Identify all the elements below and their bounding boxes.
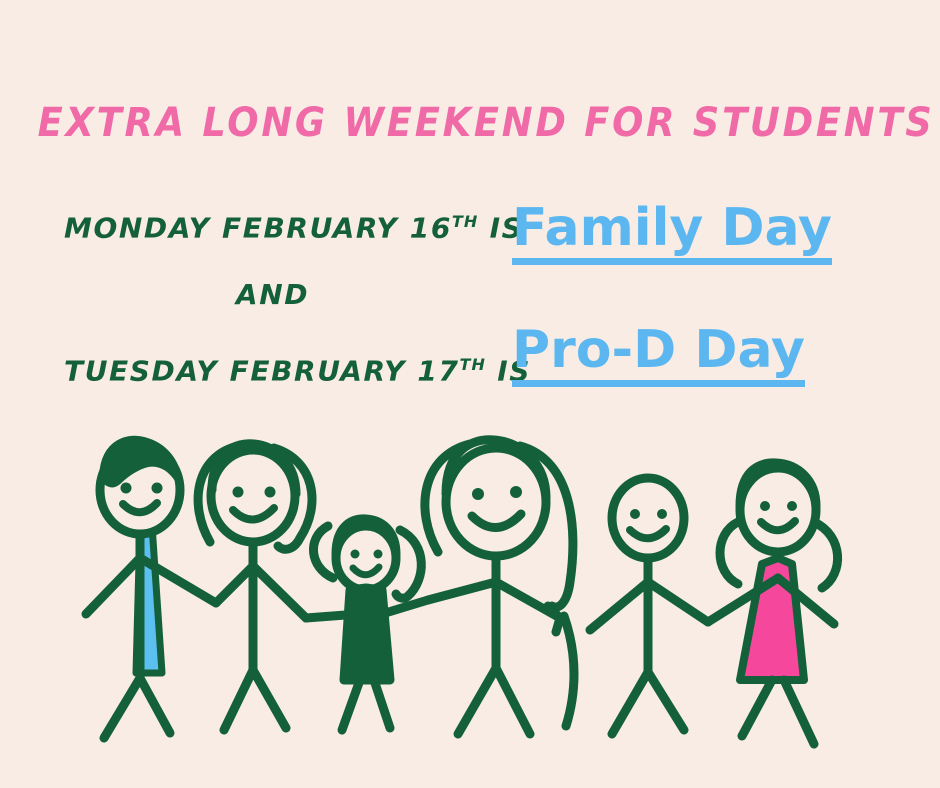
eye-left: [760, 501, 770, 511]
arm-left: [306, 614, 359, 618]
hair-long-right: [564, 616, 574, 726]
prod-day-text: Pro-D Day: [512, 322, 805, 387]
family-day-label: Family Day: [512, 200, 832, 265]
leg-right: [374, 680, 390, 728]
eye-right: [152, 483, 163, 494]
pink-dress-shape: [740, 558, 804, 680]
hair-strand-left: [313, 526, 333, 578]
eye-right: [657, 509, 667, 519]
eye-left: [472, 488, 484, 500]
eye-left: [233, 487, 244, 498]
family-day-text: Family Day: [512, 200, 832, 265]
arm-right: [648, 582, 708, 622]
leg-right: [140, 678, 170, 733]
arm-left: [590, 582, 648, 630]
page-title: EXTRA LONG WEEKEND FOR STUDENTS: [38, 100, 903, 146]
figure-child-short-hair: [590, 478, 708, 734]
eye-right: [374, 550, 383, 559]
prod-day-label: Pro-D Day: [512, 322, 805, 387]
hair-strand-left: [720, 522, 738, 584]
figure-child-pink-dress: [708, 463, 838, 744]
arm-right: [253, 566, 306, 618]
eye-right: [510, 486, 522, 498]
tuesday-date-ordinal: TH: [460, 355, 486, 374]
leg-right: [648, 672, 684, 730]
hair-strand-right: [814, 522, 838, 588]
leg-right: [784, 680, 814, 744]
eye-left: [121, 483, 132, 494]
figure-adult-tall-long-hair: [425, 440, 574, 734]
eye-left: [351, 550, 360, 559]
leg-left: [612, 672, 648, 734]
leg-left: [224, 670, 253, 730]
leg-right: [253, 670, 286, 728]
arm-left: [86, 558, 140, 614]
conjunction-and: AND: [0, 278, 545, 312]
monday-date-prefix: MONDAY FEBRUARY 16: [64, 211, 452, 244]
stick-figures-illustration: [78, 418, 878, 758]
green-dress-shape: [344, 588, 390, 680]
tuesday-date-prefix: TUESDAY FEBRUARY 17: [64, 354, 460, 387]
arm-left: [428, 582, 496, 600]
poster-canvas: EXTRA LONG WEEKEND FOR STUDENTS MONDAY F…: [0, 0, 940, 788]
monday-date-line: MONDAY FEBRUARY 16TH IS: [64, 205, 523, 245]
leg-left: [104, 678, 140, 738]
head-outline: [612, 478, 684, 558]
leg-right: [496, 668, 530, 734]
eye-right: [787, 501, 797, 511]
leg-left: [458, 668, 496, 734]
head-outline: [336, 526, 396, 590]
figure-child-green-dress: [306, 519, 428, 730]
tuesday-date-line: TUESDAY FEBRUARY 17TH IS: [64, 348, 531, 388]
stick-figures-svg: [78, 418, 878, 758]
figure-adult-long-hair: [198, 444, 312, 730]
monday-date-ordinal: TH: [452, 212, 478, 231]
eye-left: [630, 509, 640, 519]
eye-right: [265, 487, 276, 498]
arm-left: [216, 566, 253, 603]
leg-left: [742, 680, 772, 736]
leg-left: [342, 680, 360, 730]
